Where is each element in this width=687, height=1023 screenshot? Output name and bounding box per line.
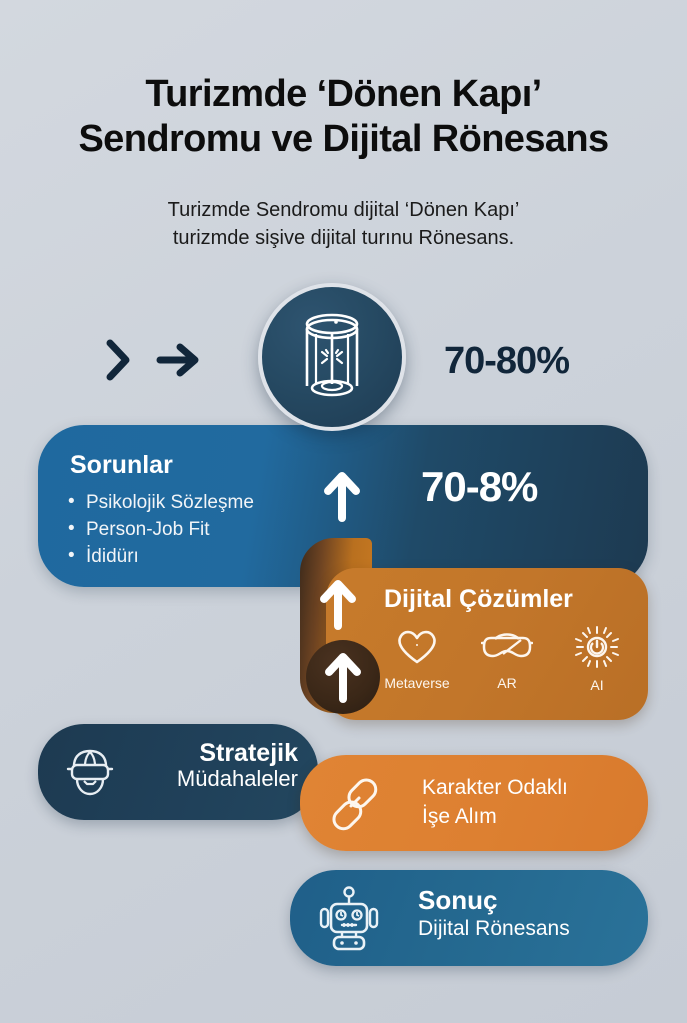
strategic-text-block: Stratejik Müdahaleler: [177, 740, 298, 793]
revolving-door-badge: [258, 283, 406, 431]
result-panel[interactable]: Sonuç Dijital Rönesans: [290, 870, 648, 966]
heart-icon: [394, 626, 440, 671]
digital-solutions-icon-row: Metaverse AR: [378, 626, 636, 693]
recruitment-line-2: İşe Alım: [422, 803, 568, 832]
strategic-interventions-panel[interactable]: Stratejik Müdahaleler: [38, 724, 318, 820]
recruitment-line-1: Karakter Odaklı: [422, 774, 568, 803]
chevron-right-icon: [104, 338, 134, 382]
digital-item-label: AI: [590, 677, 603, 693]
page-subtitle: Turizmde Sendromu dijital ‘Dönen Kapı’ t…: [0, 196, 687, 253]
list-item: Person-Job Fit: [68, 516, 254, 543]
arrow-up-icon: [318, 578, 358, 635]
recruitment-text-block: Karakter Odaklı İşe Alım: [422, 774, 568, 832]
page-title: Turizmde ‘Dönen Kapı’ Sendromu ve Dijita…: [0, 72, 687, 162]
title-line-1: Turizmde ‘Dönen Kapı’: [145, 73, 541, 115]
recruitment-panel[interactable]: Karakter Odaklı İşe Alım: [300, 755, 648, 851]
subtitle-line-1: Turizmde Sendromu dijital ‘Dönen Kapı’: [168, 199, 520, 221]
vr-face-icon: [64, 748, 116, 803]
subtitle-line-2: turizmde sişive dijital turınu Rönesans.: [0, 224, 687, 252]
revolving-door-icon: [294, 310, 370, 405]
title-line-2: Sendromu ve Dijital Rönesans: [0, 117, 687, 162]
digital-item-ai[interactable]: AI: [558, 626, 636, 693]
result-title: Sonuç: [418, 886, 570, 915]
flow-arrows-group: [104, 338, 202, 382]
result-text-block: Sonuç Dijital Rönesans: [418, 886, 570, 942]
hero-percent: 70-80%: [444, 340, 569, 383]
robot-icon: [318, 886, 380, 957]
list-item-continuation: İdidürı: [68, 543, 254, 570]
arrow-right-icon: [156, 338, 202, 382]
digital-item-metaverse[interactable]: Metaverse: [378, 626, 456, 693]
problems-percent: 70-8%: [421, 463, 537, 511]
list-item: Psikolojik Sözleşme: [68, 489, 254, 516]
chain-link-icon: [324, 775, 386, 838]
infographic-canvas: Turizmde ‘Dönen Kapı’ Sendromu ve Dijita…: [0, 0, 687, 1023]
digital-solutions-heading: Dijital Çözümler: [384, 585, 573, 614]
digital-item-label: Metaverse: [384, 675, 449, 691]
digital-item-ar[interactable]: AR: [468, 626, 546, 693]
vr-goggles-icon: [481, 626, 533, 671]
result-subtitle: Dijital Rönesans: [418, 915, 570, 942]
arrow-up-icon: [306, 640, 380, 714]
digital-solutions-panel[interactable]: Dijital Çözümler Metaverse: [326, 568, 648, 720]
arrow-up-icon: [322, 470, 362, 527]
strategic-subtitle: Müdahaleler: [177, 766, 298, 792]
ai-sun-power-icon: [574, 626, 620, 673]
problems-heading: Sorunlar: [70, 451, 173, 480]
strategic-title: Stratejik: [177, 740, 298, 766]
problems-bullet-list: Psikolojik Sözleşme Person-Job Fit İdidü…: [68, 489, 254, 570]
digital-item-label: AR: [497, 675, 516, 691]
